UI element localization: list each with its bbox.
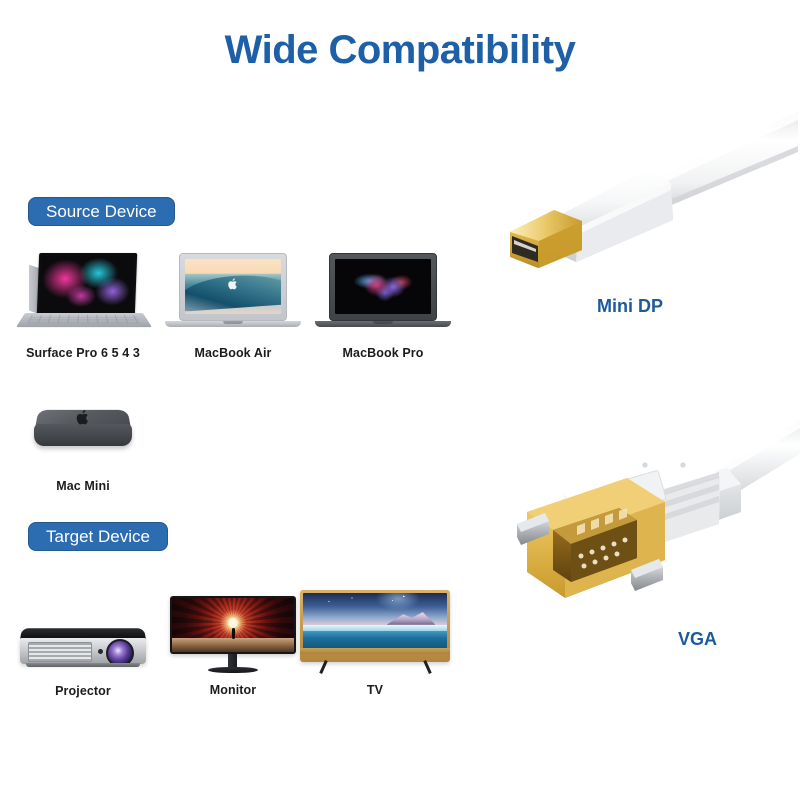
device-label: Mac Mini bbox=[8, 479, 158, 493]
badge-source-label: Source Device bbox=[46, 202, 157, 222]
apple-logo-icon bbox=[76, 409, 91, 426]
macbook-pro-laptop-icon bbox=[308, 247, 458, 339]
badge-source-device: Source Device bbox=[28, 197, 175, 226]
device-label: Monitor bbox=[158, 683, 308, 697]
device-macbook-air: MacBook Air bbox=[158, 247, 308, 360]
macbook-air-laptop-icon bbox=[158, 247, 308, 339]
connector-label-mini-dp: Mini DP bbox=[597, 296, 663, 317]
device-surface-pro: Surface Pro 6 5 4 3 bbox=[8, 247, 158, 360]
page-title: Wide Compatibility bbox=[0, 28, 800, 73]
apple-logo-icon bbox=[228, 278, 239, 291]
device-label: Projector bbox=[8, 684, 158, 698]
surface-pro-tablet-icon bbox=[8, 247, 158, 339]
infographic-page: Wide Compatibility Source Device Surface… bbox=[0, 0, 800, 800]
device-tv: TV bbox=[300, 568, 450, 697]
mini-dp-connector-illustration bbox=[498, 110, 800, 295]
device-label: TV bbox=[300, 683, 450, 697]
device-monitor: Monitor bbox=[158, 572, 308, 697]
device-label: MacBook Pro bbox=[308, 346, 458, 360]
housing-screw-dot bbox=[642, 462, 647, 467]
vga-connector-illustration: VGA bbox=[505, 420, 800, 620]
connector-label-vga: VGA bbox=[678, 629, 717, 650]
housing-screw-dot bbox=[680, 462, 685, 467]
device-label: MacBook Air bbox=[158, 346, 308, 360]
device-projector: Projector bbox=[8, 585, 158, 698]
badge-target-device: Target Device bbox=[28, 522, 168, 551]
badge-target-label: Target Device bbox=[46, 527, 150, 547]
monitor-icon bbox=[158, 572, 308, 676]
tv-icon bbox=[300, 568, 450, 676]
device-mac-mini: Mac Mini bbox=[8, 380, 158, 493]
device-macbook-pro: MacBook Pro bbox=[308, 247, 458, 360]
projector-icon bbox=[8, 585, 158, 677]
device-label: Surface Pro 6 5 4 3 bbox=[8, 346, 158, 360]
mac-mini-desktop-icon bbox=[8, 380, 158, 472]
